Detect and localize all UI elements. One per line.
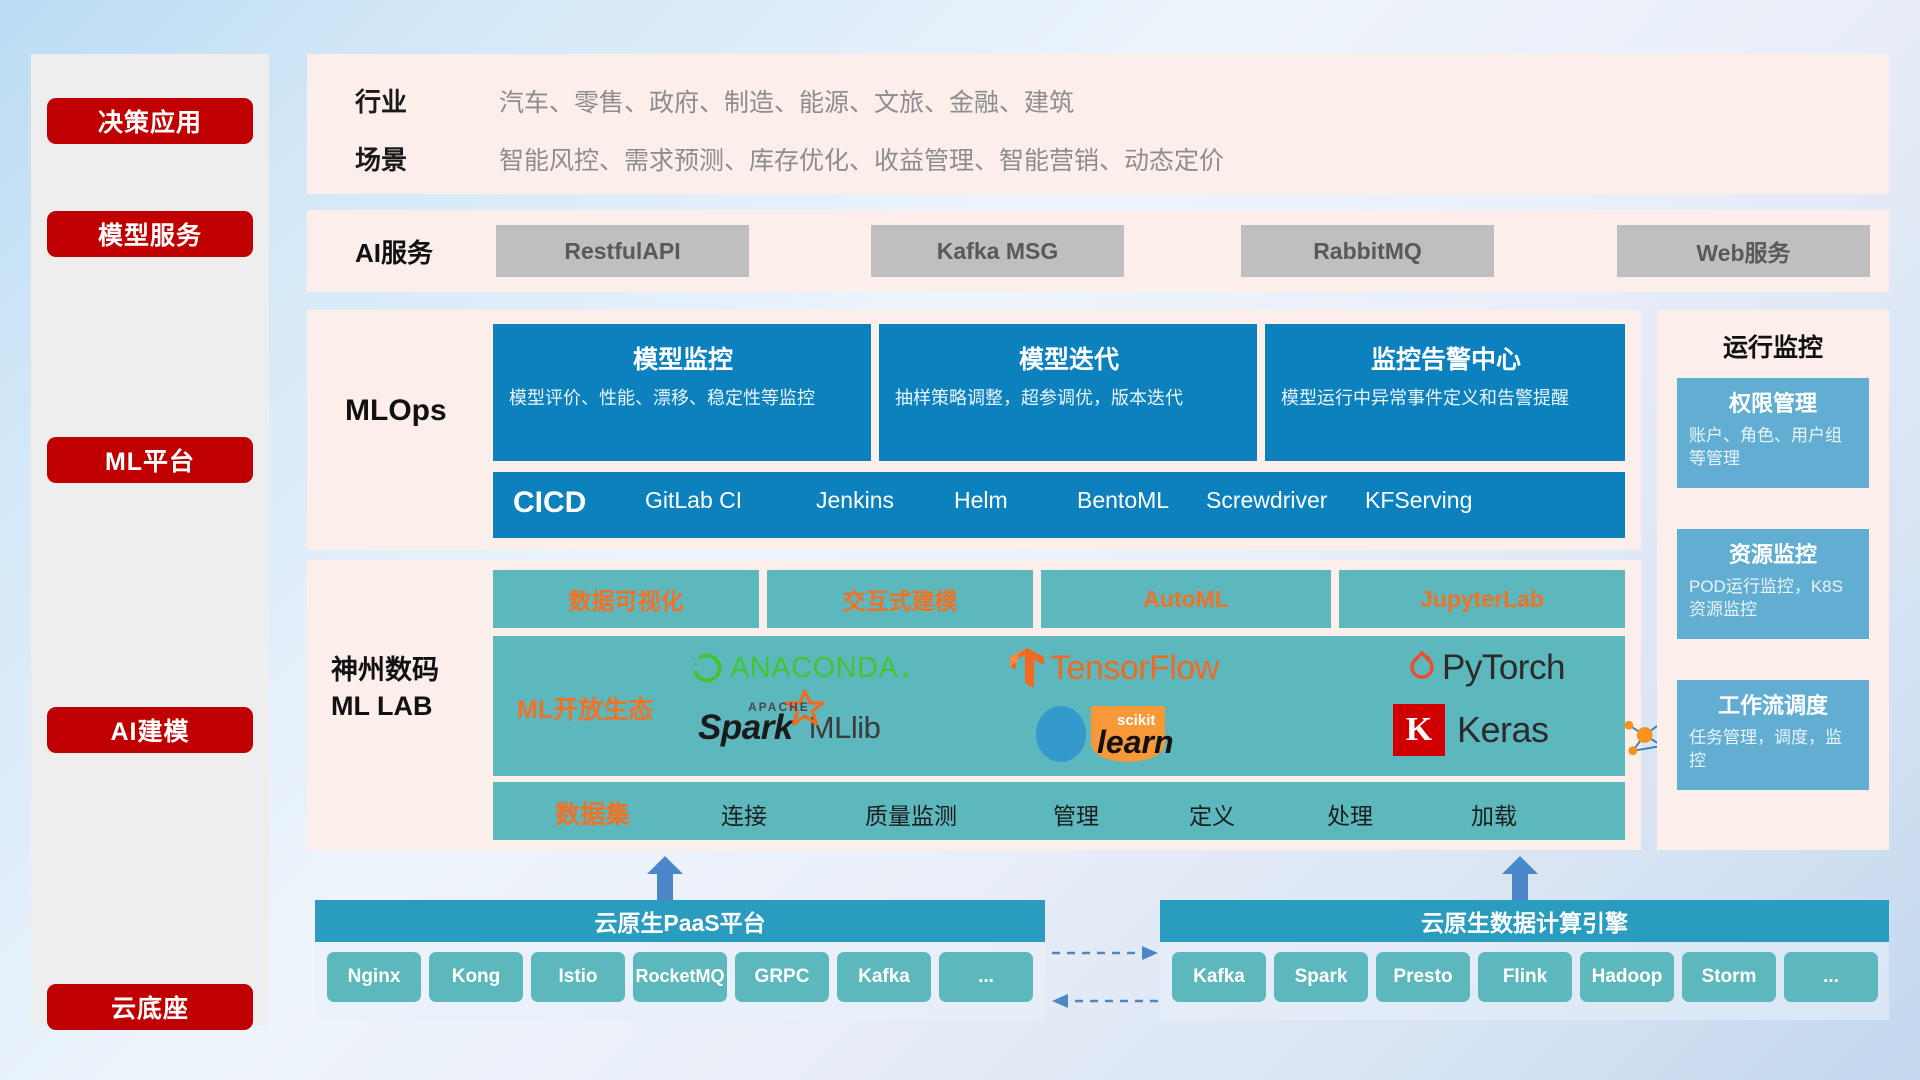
ml-lab-tab-automl[interactable]: AutoML	[1041, 570, 1331, 628]
cloud-engine-chip-kafka[interactable]: Kafka	[1172, 952, 1266, 1002]
industry-label: 行业	[355, 82, 407, 119]
cloud-engine-chip-more[interactable]: ...	[1784, 952, 1878, 1002]
ai-service-chip-web-service[interactable]: Web服务	[1617, 225, 1870, 277]
mlops-card-title: 监控告警中心	[1281, 340, 1611, 376]
learn-text: learn	[1097, 724, 1173, 761]
mlops-card-desc: 模型评价、性能、漂移、稳定性等监控	[509, 386, 857, 412]
ml-lab-tab-jupyterlab[interactable]: JupyterLab	[1339, 570, 1625, 628]
scenario-values: 智能风控、需求预测、库存优化、收益管理、智能营销、动态定价	[499, 141, 1224, 177]
ml-ecosystem-band: ML开放生态 ANACONDA . TensorFlow	[493, 636, 1625, 776]
ai-service-chip-restfulapi[interactable]: RestfulAPI	[496, 225, 749, 277]
keras-k-mark-icon: K	[1393, 704, 1445, 756]
monitoring-card-permission[interactable]: 权限管理 账户、角色、用户组等管理	[1677, 378, 1869, 488]
mlops-card-desc: 模型运行中异常事件定义和告警提醒	[1281, 386, 1611, 412]
spark-wordmark: Spark	[698, 708, 793, 748]
architecture-diagram: 决策应用 模型服务 ML平台 AI建模 云底座 行业 汽车、零售、政府、制造、能…	[0, 0, 1920, 1080]
cicd-item-kfserving[interactable]: KFServing	[1365, 488, 1485, 514]
spark-mllib-logo: APACHE Spark MLlib	[698, 708, 880, 748]
cloud-paas-group: 云原生PaaS平台 Nginx Kong Istio RocketMQ GRPC…	[315, 900, 1045, 1020]
monitoring-card-title: 权限管理	[1689, 386, 1857, 418]
tensorflow-mark-icon	[1006, 646, 1048, 690]
cloud-engine-title: 云原生数据计算引擎	[1160, 900, 1889, 942]
pytorch-wordmark: PyTorch	[1442, 648, 1565, 688]
dataset-item-define[interactable]: 定义	[1189, 797, 1235, 831]
dataset-item-load[interactable]: 加载	[1471, 797, 1517, 831]
monitoring-card-desc: POD运行监控，K8S资源监控	[1689, 575, 1857, 622]
cloud-paas-chip-more[interactable]: ...	[939, 952, 1033, 1002]
cloud-paas-chip-nginx[interactable]: Nginx	[327, 952, 421, 1002]
cloud-engine-chip-presto[interactable]: Presto	[1376, 952, 1470, 1002]
anaconda-logo: ANACONDA .	[690, 651, 909, 685]
layer-button-ai-modeling[interactable]: AI建模	[47, 707, 253, 753]
layer-button-ml-platform[interactable]: ML平台	[47, 437, 253, 483]
dataset-item-connect[interactable]: 连接	[721, 797, 767, 831]
industry-values: 汽车、零售、政府、制造、能源、文旅、金融、建筑	[499, 83, 1074, 119]
cloud-paas-chip-istio[interactable]: Istio	[531, 952, 625, 1002]
cloud-paas-chip-kafka[interactable]: Kafka	[837, 952, 931, 1002]
anaconda-wordmark: ANACONDA	[730, 652, 898, 685]
pytorch-flame-icon	[1406, 650, 1438, 686]
mlops-label: MLOps	[345, 394, 447, 428]
monitoring-card-title: 工作流调度	[1689, 688, 1857, 720]
mlops-card-model-iteration[interactable]: 模型迭代 抽样策略调整，超参调优，版本迭代	[879, 324, 1257, 461]
cicd-item-helm[interactable]: Helm	[954, 488, 1074, 514]
mlops-card-model-monitoring[interactable]: 模型监控 模型评价、性能、漂移、稳定性等监控	[493, 324, 871, 461]
dataset-item-manage[interactable]: 管理	[1053, 797, 1099, 831]
cloud-paas-chip-rocketmq[interactable]: RocketMQ	[633, 952, 727, 1002]
cicd-item-bentoml[interactable]: BentoML	[1077, 488, 1197, 514]
layer-rail: 决策应用 模型服务 ML平台 AI建模 云底座	[31, 54, 269, 1026]
cloud-paas-chip-kong[interactable]: Kong	[429, 952, 523, 1002]
paas-up-arrow-icon	[645, 856, 685, 900]
applications-panel: 行业 汽车、零售、政府、制造、能源、文旅、金融、建筑 场景 智能风控、需求预测、…	[307, 54, 1889, 194]
engine-up-arrow-icon	[1500, 856, 1540, 900]
dataset-item-process[interactable]: 处理	[1327, 797, 1373, 831]
monitoring-card-title: 资源监控	[1689, 537, 1857, 569]
cloud-engine-chip-storm[interactable]: Storm	[1682, 952, 1776, 1002]
cicd-item-gitlab-ci[interactable]: GitLab CI	[645, 488, 765, 514]
cicd-item-screwdriver[interactable]: Screwdriver	[1206, 488, 1326, 514]
cloud-engine-chip-flink[interactable]: Flink	[1478, 952, 1572, 1002]
spark-apache-text: APACHE	[748, 700, 810, 714]
mlops-card-title: 模型迭代	[895, 340, 1243, 376]
dataset-band: 数据集 连接 质量监测 管理 定义 处理 加载	[493, 782, 1625, 840]
monitoring-card-resource[interactable]: 资源监控 POD运行监控，K8S资源监控	[1677, 529, 1869, 639]
mlops-card-title: 模型监控	[509, 340, 857, 376]
mlops-card-alert-center[interactable]: 监控告警中心 模型运行中异常事件定义和告警提醒	[1265, 324, 1625, 461]
monitoring-card-desc: 账户、角色、用户组等管理	[1689, 424, 1857, 471]
ai-service-chip-rabbitmq[interactable]: RabbitMQ	[1241, 225, 1494, 277]
cicd-title: CICD	[513, 486, 586, 520]
cloud-engine-chip-spark[interactable]: Spark	[1274, 952, 1368, 1002]
ml-lab-label: 神州数码 ML LAB	[331, 652, 439, 725]
cloud-bidirectional-arrows	[1050, 935, 1160, 1025]
keras-logo: K Keras	[1393, 704, 1549, 756]
pytorch-logo: PyTorch	[1406, 648, 1565, 688]
tensorflow-logo: TensorFlow	[1006, 646, 1219, 690]
cloud-engine-chip-hadoop[interactable]: Hadoop	[1580, 952, 1674, 1002]
ml-lab-tab-interactive-modeling[interactable]: 交互式建模	[767, 570, 1033, 628]
monitoring-panel: 运行监控 权限管理 账户、角色、用户组等管理 资源监控 POD运行监控，K8S资…	[1657, 310, 1889, 850]
ml-ecosystem-label: ML开放生态	[517, 690, 653, 726]
dataset-title: 数据集	[555, 795, 630, 831]
scikit-learn-logo: scikit learn	[1033, 702, 1193, 764]
tensorflow-wordmark: TensorFlow	[1050, 649, 1219, 688]
anaconda-ring-icon	[690, 651, 724, 685]
cloud-paas-chip-grpc[interactable]: GRPC	[735, 952, 829, 1002]
dataset-item-quality[interactable]: 质量监测	[865, 797, 957, 831]
cloud-engine-group: 云原生数据计算引擎 Kafka Spark Presto Flink Hadoo…	[1160, 900, 1889, 1020]
ml-lab-tab-data-visualization[interactable]: 数据可视化	[493, 570, 759, 628]
anaconda-dot: .	[901, 652, 909, 685]
layer-button-model-service[interactable]: 模型服务	[47, 211, 253, 257]
layer-button-decision-app[interactable]: 决策应用	[47, 98, 253, 144]
scenario-label: 场景	[355, 140, 407, 177]
keras-wordmark: Keras	[1457, 709, 1549, 751]
ml-lab-panel: 神州数码 ML LAB 数据可视化 交互式建模 AutoML JupyterLa…	[307, 560, 1641, 850]
ai-service-chip-kafka-msg[interactable]: Kafka MSG	[871, 225, 1124, 277]
monitoring-title: 运行监控	[1657, 328, 1889, 364]
mlops-panel: MLOps 模型监控 模型评价、性能、漂移、稳定性等监控 模型迭代 抽样策略调整…	[307, 310, 1641, 550]
ai-service-label: AI服务	[355, 233, 433, 270]
ml-lab-label-line1: 神州数码	[331, 655, 439, 685]
ml-lab-label-line2: ML LAB	[331, 691, 433, 721]
monitoring-card-workflow[interactable]: 工作流调度 任务管理，调度，监控	[1677, 680, 1869, 790]
cicd-item-jenkins[interactable]: Jenkins	[816, 488, 936, 514]
layer-button-cloud-base[interactable]: 云底座	[47, 984, 253, 1030]
ai-service-panel: AI服务 RestfulAPI Kafka MSG RabbitMQ Web服务	[307, 210, 1889, 292]
cicd-bar: CICD GitLab CI Jenkins Helm BentoML Scre…	[493, 472, 1625, 538]
mlops-card-desc: 抽样策略调整，超参调优，版本迭代	[895, 386, 1243, 412]
cloud-paas-title: 云原生PaaS平台	[315, 900, 1045, 942]
monitoring-card-desc: 任务管理，调度，监控	[1689, 726, 1857, 773]
